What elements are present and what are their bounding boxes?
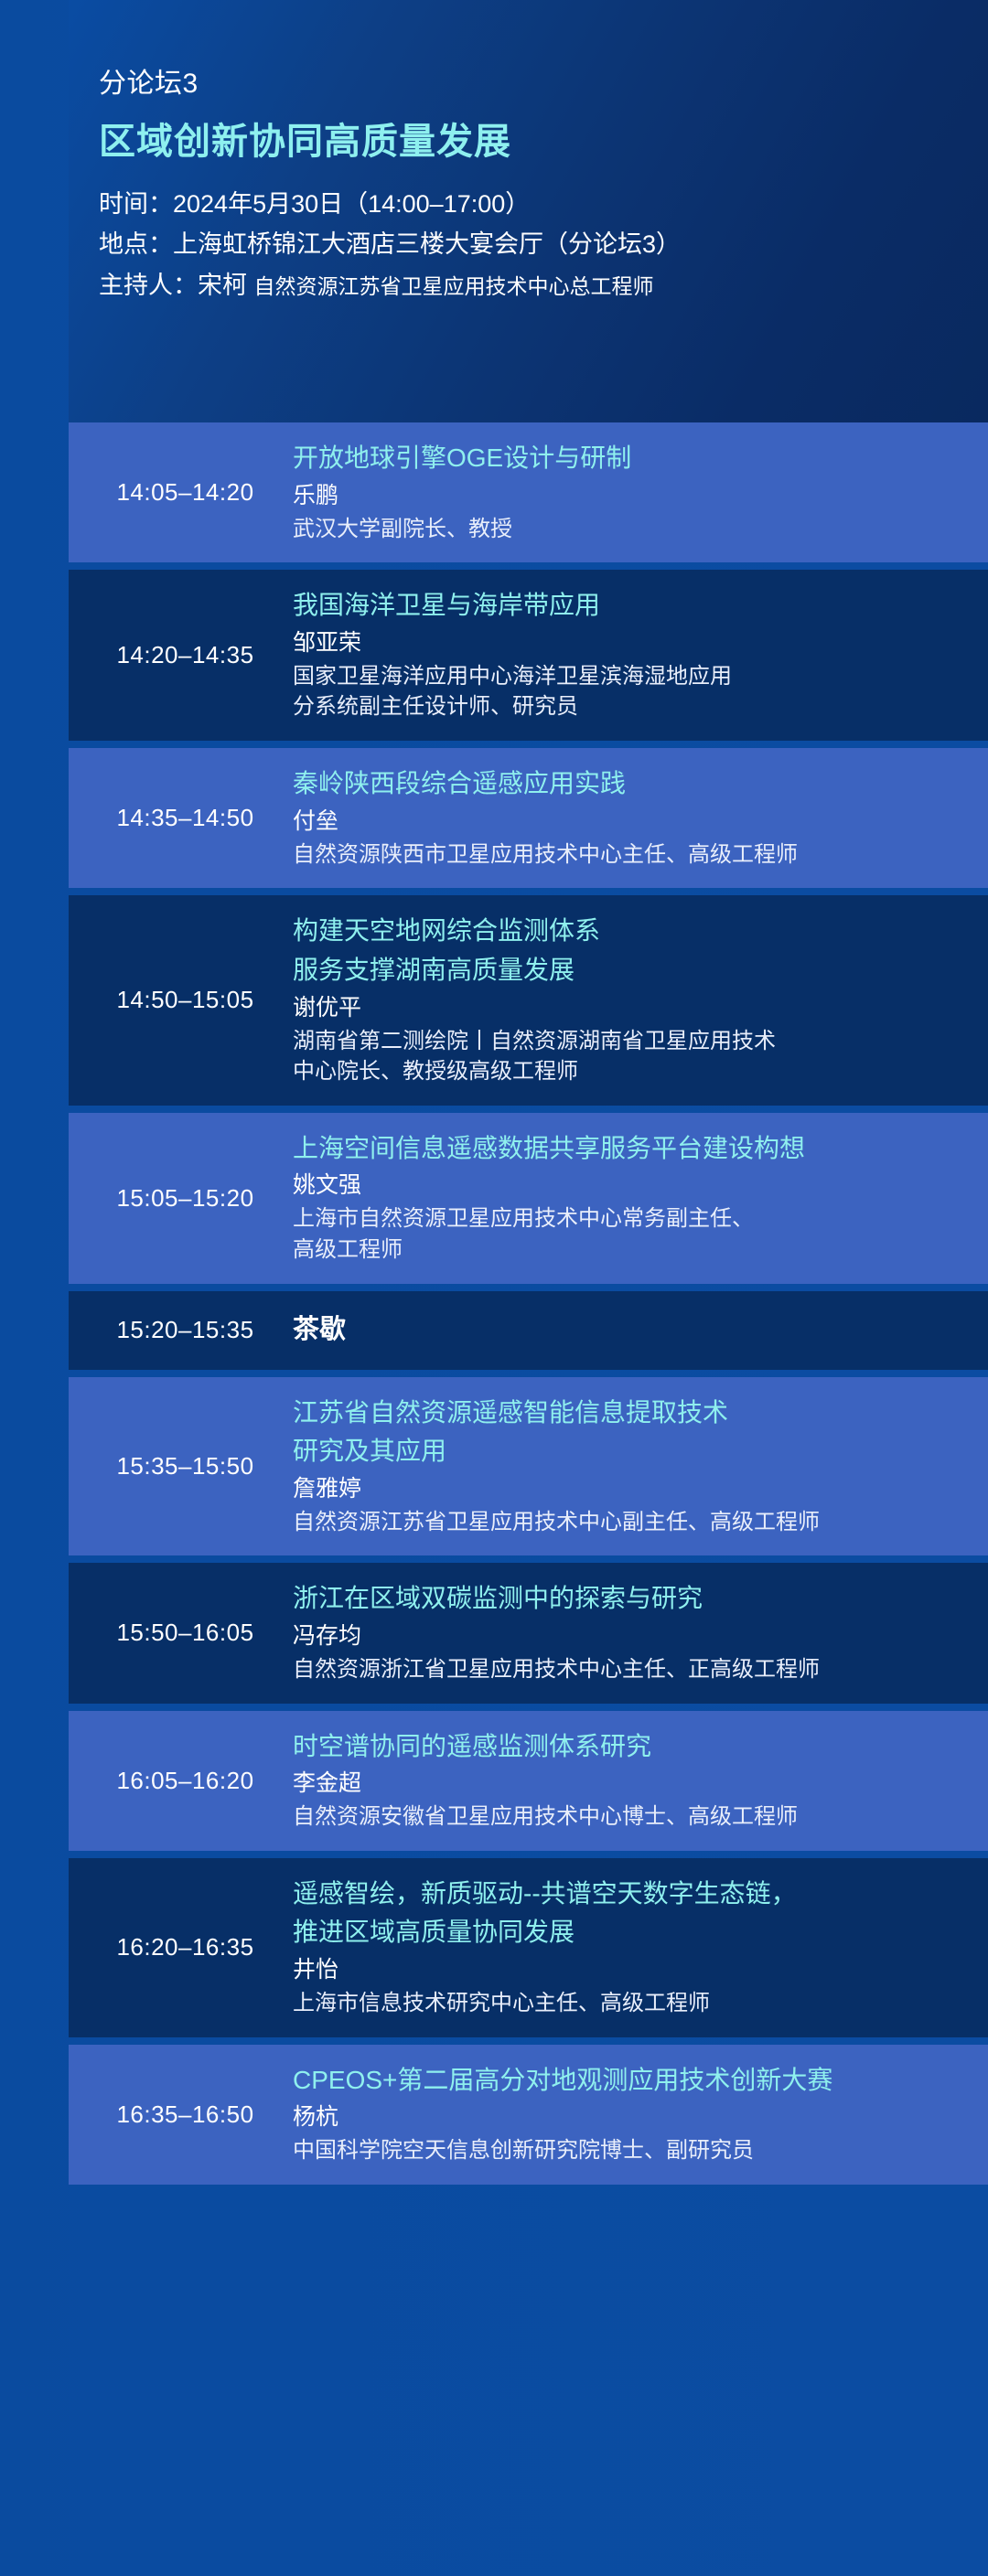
page-title: 区域创新协同高质量发展 <box>99 121 988 163</box>
session-speaker: 詹雅婷 <box>293 1473 972 1505</box>
session-title: 上海空间信息遥感数据共享服务平台建设构想 <box>293 1131 972 1167</box>
schedule-row: 15:35–15:50江苏省自然资源遥感智能信息提取技术研究及其应用詹雅婷自然资… <box>69 1377 988 1556</box>
session-affiliation: 上海市自然资源卫星应用技术中心常务副主任、 <box>293 1203 972 1235</box>
session-title: 江苏省自然资源遥感智能信息提取技术 <box>293 1395 972 1431</box>
schedule-row: 14:05–14:20开放地球引擎OGE设计与研制乐鹏武汉大学副院长、教授 <box>69 422 988 562</box>
session-time: 15:50–16:05 <box>69 1619 293 1647</box>
schedule-row: 16:20–16:35遥感智绘，新质驱动--共谱空天数字生态链，推进区域高质量协… <box>69 1858 988 2037</box>
session-details: 开放地球引擎OGE设计与研制乐鹏武汉大学副院长、教授 <box>293 441 988 544</box>
session-speaker: 李金超 <box>293 1768 972 1800</box>
session-time: 16:05–16:20 <box>69 1767 293 1795</box>
session-speaker: 付垒 <box>293 806 972 838</box>
session-time: 14:35–14:50 <box>69 804 293 832</box>
schedule-row: 14:35–14:50秦岭陕西段综合遥感应用实践付垒自然资源陕西市卫星应用技术中… <box>69 748 988 888</box>
session-time: 14:20–14:35 <box>69 641 293 669</box>
session-speaker: 冯存均 <box>293 1620 972 1652</box>
session-title: 构建天空地网综合监测体系 <box>293 914 972 949</box>
session-details: 构建天空地网综合监测体系服务支撑湖南高质量发展谢优平湖南省第二测绘院丨自然资源湖… <box>293 914 988 1086</box>
session-title: 秦岭陕西段综合遥感应用实践 <box>293 766 972 802</box>
session-title: 浙江在区域双碳监测中的探索与研究 <box>293 1581 972 1617</box>
session-speaker: 姚文强 <box>293 1170 972 1202</box>
session-affiliation: 上海市信息技术研究中心主任、高级工程师 <box>293 1988 972 2019</box>
session-details: 我国海洋卫星与海岸带应用邹亚荣国家卫星海洋应用中心海洋卫星滨海湿地应用分系统副主… <box>293 588 988 722</box>
session-title-line2: 研究及其应用 <box>293 1434 972 1470</box>
session-details: 秦岭陕西段综合遥感应用实践付垒自然资源陕西市卫星应用技术中心主任、高级工程师 <box>293 766 988 870</box>
forum-location-line: 地点：上海虹桥锦江大酒店三楼大宴会厅（分论坛3） <box>99 227 988 262</box>
session-time: 14:05–14:20 <box>69 478 293 507</box>
session-title: 遥感智绘，新质驱动--共谱空天数字生态链， <box>293 1876 972 1912</box>
forum-label: 分论坛3 <box>99 69 988 99</box>
host-affiliation: 自然资源江苏省卫星应用技术中心总工程师 <box>254 274 654 298</box>
session-affiliation: 自然资源安徽省卫星应用技术中心博士、高级工程师 <box>293 1801 972 1833</box>
session-schedule-list: 14:05–14:20开放地球引擎OGE设计与研制乐鹏武汉大学副院长、教授14:… <box>69 422 988 2192</box>
session-affiliation: 中国科学院空天信息创新研究院博士、副研究员 <box>293 2135 972 2166</box>
session-time: 16:35–16:50 <box>69 2100 293 2129</box>
schedule-row: 16:05–16:20时空谱协同的遥感监测体系研究李金超自然资源安徽省卫星应用技… <box>69 1711 988 1851</box>
session-affiliation: 高级工程师 <box>293 1235 972 1266</box>
forum-header-panel: 分论坛3 区域创新协同高质量发展 时间：2024年5月30日（14:00–17:… <box>69 0 988 422</box>
session-title: 开放地球引擎OGE设计与研制 <box>293 441 972 476</box>
session-affiliation: 自然资源陕西市卫星应用技术中心主任、高级工程师 <box>293 839 972 871</box>
session-time: 15:05–15:20 <box>69 1184 293 1213</box>
session-details: 上海空间信息遥感数据共享服务平台建设构想姚文强上海市自然资源卫星应用技术中心常务… <box>293 1131 988 1266</box>
session-title: 茶歇 <box>293 1311 972 1348</box>
forum-time-line: 时间：2024年5月30日（14:00–17:00） <box>99 187 988 221</box>
session-details: 茶歇 <box>293 1311 988 1348</box>
session-time: 16:20–16:35 <box>69 1933 293 1961</box>
session-time: 15:20–15:35 <box>69 1316 293 1344</box>
agenda-poster: 分论坛3 区域创新协同高质量发展 时间：2024年5月30日（14:00–17:… <box>0 0 988 2576</box>
session-title-line2: 推进区域高质量协同发展 <box>293 1915 972 1951</box>
session-title: 我国海洋卫星与海岸带应用 <box>293 588 972 624</box>
session-affiliation: 湖南省第二测绘院丨自然资源湖南省卫星应用技术 <box>293 1026 972 1057</box>
session-time: 14:50–15:05 <box>69 986 293 1014</box>
session-affiliation: 自然资源江苏省卫星应用技术中心副主任、高级工程师 <box>293 1507 972 1538</box>
session-speaker: 乐鹏 <box>293 480 972 512</box>
session-affiliation: 分系统副主任设计师、研究员 <box>293 691 972 722</box>
session-speaker: 邹亚荣 <box>293 627 972 659</box>
session-details: CPEOS+第二届高分对地观测应用技术创新大赛杨杭中国科学院空天信息创新研究院博… <box>293 2063 988 2166</box>
session-speaker: 谢优平 <box>293 992 972 1024</box>
session-time: 15:35–15:50 <box>69 1452 293 1480</box>
schedule-row: 15:50–16:05浙江在区域双碳监测中的探索与研究冯存均自然资源浙江省卫星应… <box>69 1563 988 1703</box>
schedule-row: 14:20–14:35我国海洋卫星与海岸带应用邹亚荣国家卫星海洋应用中心海洋卫星… <box>69 570 988 741</box>
session-speaker: 井怡 <box>293 1954 972 1986</box>
session-speaker: 杨杭 <box>293 2101 972 2133</box>
host-name: 主持人：宋柯 <box>99 272 247 299</box>
session-details: 江苏省自然资源遥感智能信息提取技术研究及其应用詹雅婷自然资源江苏省卫星应用技术中… <box>293 1395 988 1538</box>
session-details: 浙江在区域双碳监测中的探索与研究冯存均自然资源浙江省卫星应用技术中心主任、正高级… <box>293 1581 988 1684</box>
schedule-break-row: 15:20–15:35茶歇 <box>69 1291 988 1370</box>
session-details: 时空谱协同的遥感监测体系研究李金超自然资源安徽省卫星应用技术中心博士、高级工程师 <box>293 1729 988 1833</box>
session-title: CPEOS+第二届高分对地观测应用技术创新大赛 <box>293 2063 972 2099</box>
session-affiliation: 国家卫星海洋应用中心海洋卫星滨海湿地应用 <box>293 661 972 692</box>
forum-host-line: 主持人：宋柯 自然资源江苏省卫星应用技术中心总工程师 <box>99 268 988 303</box>
schedule-row: 16:35–16:50CPEOS+第二届高分对地观测应用技术创新大赛杨杭中国科学… <box>69 2045 988 2185</box>
session-affiliation: 武汉大学副院长、教授 <box>293 514 972 545</box>
schedule-row: 15:05–15:20上海空间信息遥感数据共享服务平台建设构想姚文强上海市自然资… <box>69 1113 988 1284</box>
session-affiliation: 自然资源浙江省卫星应用技术中心主任、正高级工程师 <box>293 1654 972 1685</box>
session-title-line2: 服务支撑湖南高质量发展 <box>293 953 972 989</box>
schedule-row: 14:50–15:05构建天空地网综合监测体系服务支撑湖南高质量发展谢优平湖南省… <box>69 895 988 1105</box>
session-title: 时空谱协同的遥感监测体系研究 <box>293 1729 972 1765</box>
session-details: 遥感智绘，新质驱动--共谱空天数字生态链，推进区域高质量协同发展井怡上海市信息技… <box>293 1876 988 2019</box>
session-affiliation: 中心院长、教授级高级工程师 <box>293 1056 972 1087</box>
